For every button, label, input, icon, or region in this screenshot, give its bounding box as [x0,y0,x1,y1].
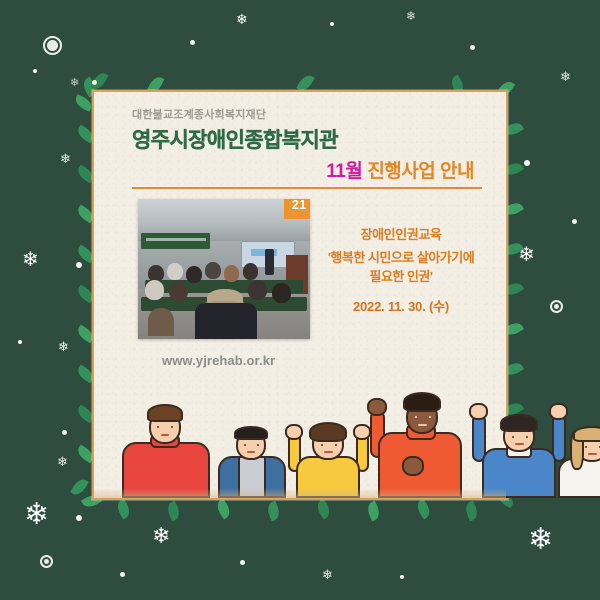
leaf-icon [414,498,433,519]
dot-decoration [330,22,334,26]
person-eye [244,444,246,446]
person-mouth [324,451,333,453]
event-photo: 21 [138,199,310,339]
photo-audience-head [145,280,164,300]
center-name-title: 영주시장애인종합복지관 [132,124,488,154]
ring-decoration [43,36,62,55]
person-mouth [515,443,524,445]
header-divider [132,187,482,189]
event-info: 장애인인권교육 '행복한 시민으로 살아가기에 필요한 인권' 2022. 11… [310,199,488,339]
snowflake-icon: ❄ [406,10,416,22]
person-eye [512,436,514,438]
person-mouth [418,424,427,426]
snowflake-icon: ❄ [152,525,170,547]
photo-foreground-coat [195,303,257,339]
snowflake-icon: ❄ [560,70,571,83]
person-eye [526,436,528,438]
person-mouth [161,434,169,436]
dot-decoration [33,69,37,73]
photo-audience-head [186,266,201,283]
snowflake-icon: ❄ [322,568,333,581]
person-orange-turtleneck [362,380,474,498]
dot-decoration [76,515,82,521]
person-eye [335,444,337,446]
leaf-icon [165,501,183,522]
leaf-berry [92,80,97,85]
person-hair [573,426,600,442]
headline-row: 11월 진행사업 안내 [112,156,474,183]
person-eye [585,446,587,448]
snowflake-icon: ❄ [24,500,49,530]
dot-decoration [470,45,475,50]
leaf-icon [73,94,94,112]
dot-decoration [240,560,245,565]
leaf-icon [114,498,133,519]
dot-decoration [572,219,577,224]
person-white-shirt [554,424,600,498]
person-fist [469,403,488,420]
snowflake-icon: ❄ [528,525,553,555]
person-hair [500,414,538,432]
snowflake-icon: ❄ [22,250,39,270]
photo-audience-head [148,265,163,282]
photo-audience-head [243,263,258,280]
dot-decoration [120,572,125,577]
person-eye [429,416,431,418]
photo-audience-head [205,262,220,279]
leaf-icon [463,501,480,522]
person-hair [234,426,268,440]
event-quote-line2: 필요한 인권' [369,267,432,287]
person-hair [309,422,347,442]
person-fist-chest [402,456,424,476]
dot-decoration [524,160,530,166]
snowflake-icon: ❄ [70,78,79,89]
photo-audience-head [167,263,182,280]
announcement-card: 대한불교조계종사회복지재단 영주시장애인종합복지관 11월 진행사업 안내 [92,90,508,500]
card-body: 21 장애인인권교육 '행복한 시민으로 살아가기에 필요한 인권' 2022.… [112,199,488,339]
headline-month: 11월 [326,156,362,183]
ring-decoration [40,555,53,568]
snowflake-icon: ❄ [60,152,71,165]
leaf-icon [70,476,89,497]
person-fist [367,398,387,416]
photo-audience-head [169,282,188,302]
event-quote-line1: '행복한 시민으로 살아가기에 [328,248,474,268]
person-hair [403,392,441,412]
headline-subject: 진행사업 안내 [367,156,474,183]
event-date: 2022. 11. 30. (수) [353,296,449,315]
group-of-people-illustration [94,368,506,498]
person-eye [415,416,417,418]
person-mouth [588,453,597,455]
leaf-icon [365,501,382,522]
ring-decoration [550,300,563,313]
event-title: 장애인인권교육 [361,224,442,243]
dot-decoration [76,262,82,268]
leaf-icon [265,501,282,522]
photo-banner [141,233,210,250]
person-mouth [247,451,255,453]
dot-decoration [62,430,67,435]
person-eye [157,426,159,428]
person-eye [321,444,323,446]
dot-decoration [400,575,404,579]
snowflake-icon: ❄ [58,340,69,353]
leaf-icon [314,498,333,519]
person-blue-overalls [214,424,292,498]
snowflake-icon: ❄ [518,245,535,265]
person-fist [285,424,303,440]
person-red-sweater [116,402,216,498]
person-fist [549,403,568,420]
leaf-icon [214,498,233,519]
photo-audience-head [272,283,291,303]
photo-audience-head [224,265,239,282]
snowflake-icon: ❄ [57,455,68,468]
snowflake-icon: ❄ [236,12,248,26]
website-url[interactable]: www.yjrehab.or.kr [162,353,488,368]
photo-audience-head [148,308,174,336]
card-header: 대한불교조계종사회복지재단 영주시장애인종합복지관 11월 진행사업 안내 [112,106,488,189]
person-eye [257,444,259,446]
person-eye [171,426,173,428]
poster-canvas: ❄ ❄ ❄ ❄ ❄ ❄ ❄ ❄ ❄ ❄ ❄ ❄ ❄ [0,0,600,600]
dot-decoration [18,340,22,344]
photo-audience-head [248,280,267,300]
photo-number-badge: 21 [284,199,310,219]
dot-decoration [190,40,195,45]
organization-label: 대한불교조계종사회복지재단 [132,106,488,122]
illustration-ground [94,488,506,498]
person-hair [147,404,183,422]
photo-speaker [265,249,274,274]
